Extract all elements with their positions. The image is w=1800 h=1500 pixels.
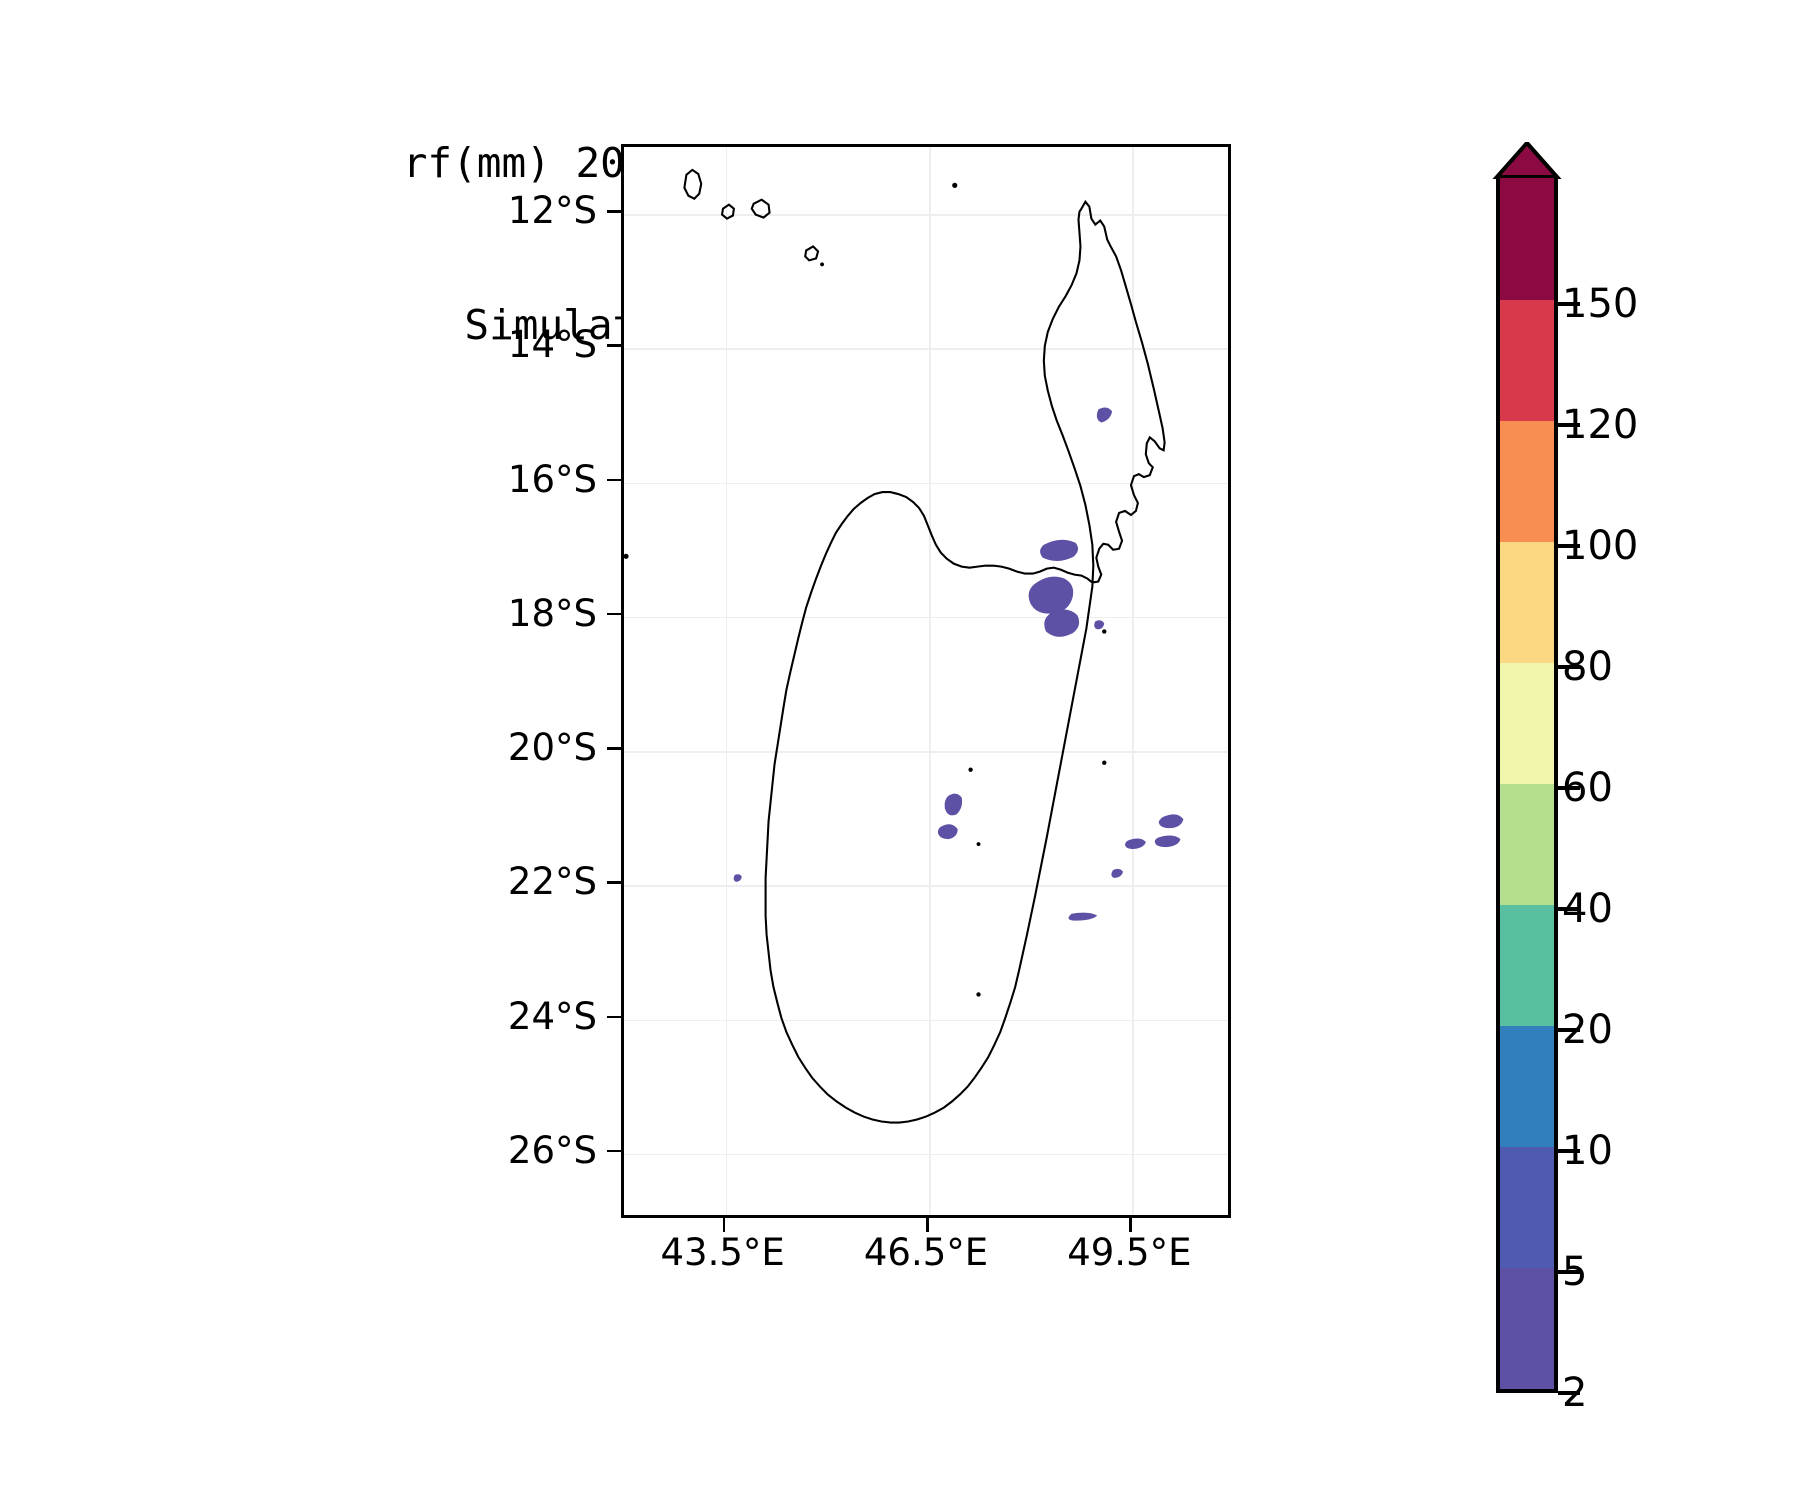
x-tick-mark: [926, 1218, 929, 1232]
y-tick-mark: [607, 613, 621, 616]
colorbar-tick-label: 20: [1562, 1010, 1613, 1050]
rainfall-contour-patches: [734, 407, 1184, 920]
colorbar-tick-label: 5: [1562, 1252, 1587, 1292]
map-axes: [621, 144, 1231, 1218]
y-axis-tick-label: 14°S: [277, 326, 597, 363]
x-axis-tick-label: 49.5°E: [999, 1234, 1259, 1271]
island-dot-2: [952, 183, 957, 188]
rain-patch: [1097, 407, 1112, 422]
rain-patch: [1111, 869, 1123, 878]
rain-patch: [1125, 839, 1146, 850]
island-small-1-outline: [722, 205, 734, 219]
rain-patch: [1029, 577, 1074, 614]
figure-canvas: rf(mm) 20250911_12 to 20250911_15 Simula…: [0, 0, 1800, 1500]
island-dot-5: [976, 992, 980, 996]
y-tick-mark: [607, 881, 621, 884]
colorbar-tick-label: 60: [1562, 768, 1613, 808]
colorbar-tick-label: 2: [1562, 1373, 1587, 1413]
rain-patch: [1069, 913, 1098, 921]
colorbar-tick-label: 40: [1562, 889, 1613, 929]
y-axis-tick-label: 20°S: [277, 729, 597, 766]
colorbar-segment: [1500, 783, 1554, 905]
island-dot-3: [624, 554, 629, 559]
y-tick-mark: [607, 210, 621, 213]
colorbar-segment: [1500, 1025, 1554, 1147]
madagascar-mainland-outline: [766, 202, 1165, 1123]
x-tick-mark: [723, 1218, 726, 1232]
colorbar-segment: [1500, 662, 1554, 784]
y-axis-tick-label: 26°S: [277, 1132, 597, 1169]
y-tick-mark: [607, 1016, 621, 1019]
rain-patch: [945, 794, 962, 816]
colorbar-tick-label: 150: [1562, 284, 1638, 324]
rain-patch: [1155, 836, 1181, 848]
rain-patch: [734, 874, 742, 882]
colorbar-extend-arrow: [1492, 142, 1562, 179]
colorbar-segment: [1500, 1267, 1554, 1389]
island-nosy-be-outline: [684, 170, 701, 199]
y-tick-mark: [607, 479, 621, 482]
island-dot-1: [820, 262, 824, 266]
island-dot-4: [1102, 629, 1106, 633]
y-axis-tick-label: 12°S: [277, 192, 597, 229]
y-axis-tick-label: 16°S: [277, 461, 597, 498]
y-tick-mark: [607, 747, 621, 750]
y-tick-mark: [607, 1150, 621, 1153]
rain-patch: [1159, 814, 1184, 828]
island-dot-8: [977, 842, 981, 846]
colorbar-segment: [1500, 904, 1554, 1026]
island-dot-6: [968, 768, 972, 772]
colorbar-segment: [1500, 420, 1554, 542]
rain-patch: [1094, 620, 1104, 629]
colorbar-segment: [1500, 299, 1554, 421]
x-tick-mark: [1129, 1218, 1132, 1232]
colorbar-tick-label: 120: [1562, 405, 1638, 445]
colorbar-tick-label: 100: [1562, 526, 1638, 566]
y-tick-mark: [607, 344, 621, 347]
island-dot-7: [1102, 761, 1106, 765]
y-axis-tick-label: 18°S: [277, 595, 597, 632]
colorbar-segment: [1500, 1146, 1554, 1268]
colorbar-segment: [1500, 178, 1554, 300]
colorbar-tick-label: 10: [1562, 1131, 1613, 1171]
colorbar-tick-label: 80: [1562, 647, 1613, 687]
colorbar[interactable]: [1496, 175, 1558, 1393]
colorbar-segment: [1500, 541, 1554, 663]
rain-patch: [938, 824, 958, 839]
rain-patch: [1040, 540, 1078, 561]
island-small-2-outline: [752, 200, 770, 218]
island-small-3-outline: [805, 246, 818, 260]
madagascar-coastline-map: [624, 147, 1228, 1215]
y-axis-tick-label: 22°S: [277, 863, 597, 900]
y-axis-tick-label: 24°S: [277, 998, 597, 1035]
